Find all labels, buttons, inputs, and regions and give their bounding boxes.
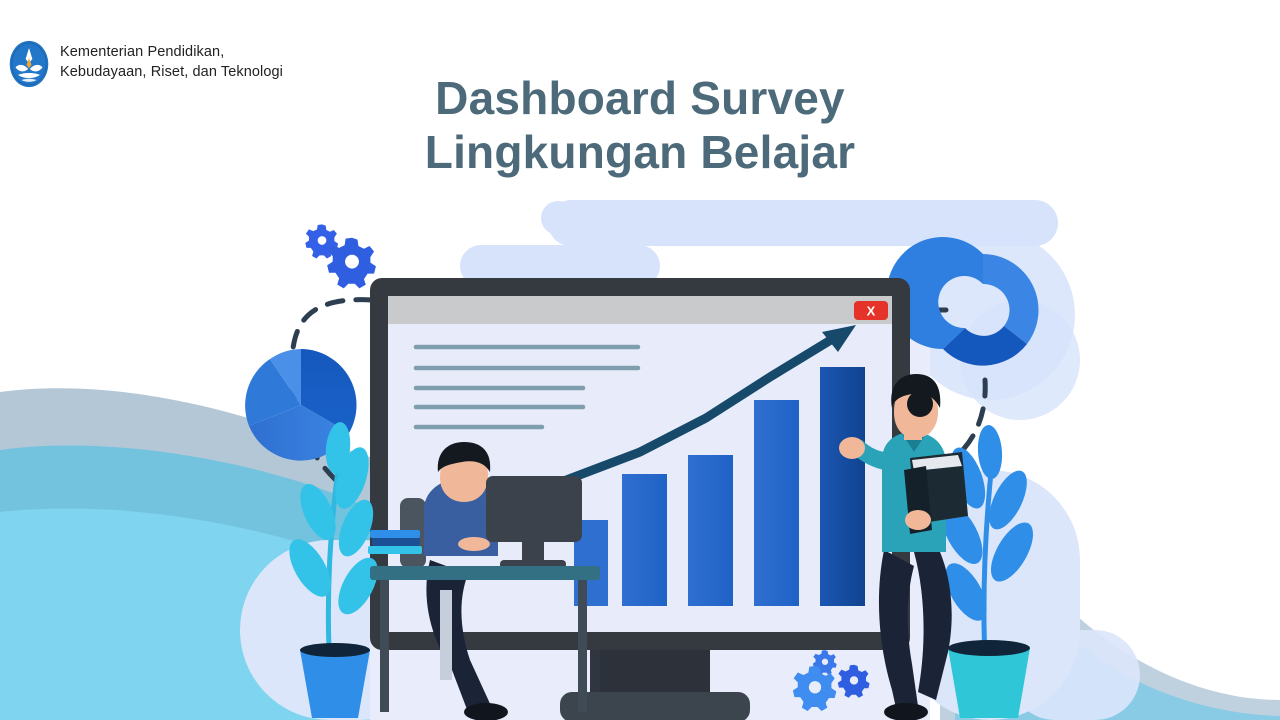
woman-legs: [879, 550, 918, 708]
woman-hand-raised: [839, 437, 865, 459]
monitor-stand-column: [600, 645, 710, 700]
bar-1: [622, 474, 667, 606]
desk-leg-left: [380, 580, 389, 712]
monitor-stand-base: [560, 692, 750, 720]
woman-hair-bun: [907, 391, 933, 417]
page-title: Dashboard Survey Lingkungan Belajar: [0, 70, 1280, 180]
desk-leg-right: [578, 580, 587, 712]
desk-monitor: [486, 476, 582, 542]
close-window-button[interactable]: X: [854, 301, 888, 320]
slide-canvas: X: [0, 0, 1280, 720]
close-window-label: X: [867, 304, 876, 319]
page-header: Kementerian Pendidikan, Kebudayaan, Rise…: [0, 0, 1280, 110]
plant-pot-left: [300, 650, 370, 718]
plant-pot-right: [948, 648, 1030, 718]
monitor-titlebar: [388, 296, 892, 324]
page-title-line-1: Dashboard Survey: [0, 70, 1280, 126]
book-stack: [368, 530, 422, 554]
woman-shoe-left: [884, 703, 928, 720]
page-title-line-2: Lingkungan Belajar: [0, 124, 1280, 180]
bar-2: [688, 455, 733, 606]
bar-3: [754, 400, 799, 606]
bar-4: [820, 367, 865, 606]
woman-hand-books: [905, 510, 931, 530]
man-hands: [458, 537, 490, 551]
